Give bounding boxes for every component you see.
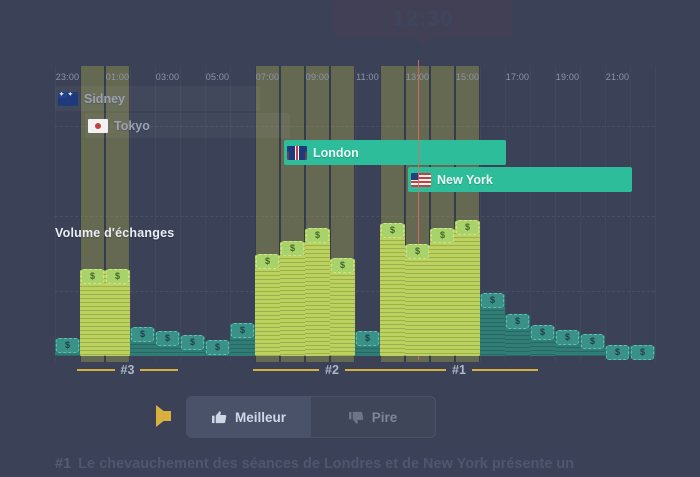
banknote-icon: $ [231,323,254,338]
volume-bar[interactable]: $ [555,331,580,356]
flag-uk-icon [287,146,307,160]
volume-bar[interactable]: $ [155,332,180,356]
rank-line-left [380,369,446,371]
axis-tick-label: 23:00 [56,72,80,82]
volume-bar[interactable]: $ [55,339,80,356]
volume-bar[interactable]: $ [130,328,155,356]
tab-meilleur[interactable]: Meilleur [187,397,311,437]
dollar-glyph: $ [615,348,620,357]
thumbs-down-icon [349,410,364,425]
banknote-icon: $ [356,331,379,346]
banknote-icon: $ [431,228,454,243]
volume-bar[interactable]: $ [430,229,455,356]
caption-number: #1 [55,456,71,472]
session-bar-london[interactable]: London [284,140,506,165]
volume-bars: $$$$$$$$$$$$$$$$$$$$$$$$ [55,216,655,356]
session-label: New York [437,173,493,187]
session-label: Tokyo [114,119,150,133]
banknote-icon: $ [556,330,579,345]
rank-line-left [77,369,115,371]
volume-bar[interactable]: $ [380,224,405,356]
axis-tick-label: 17:00 [506,72,530,82]
arrow-right-icon [156,405,170,427]
tooltip-arrow-icon [413,37,433,47]
session-bar-sidney[interactable]: Sidney [55,86,260,111]
dollar-glyph: $ [465,223,470,232]
banknote-icon: $ [581,334,604,349]
volume-bar[interactable]: $ [105,270,130,356]
volume-bar[interactable]: $ [180,336,205,356]
axis-tick-label: 01:00 [106,72,130,82]
volume-bar[interactable]: $ [330,259,355,356]
axis-tick-label: 15:00 [456,72,480,82]
dollar-glyph: $ [640,348,645,357]
dollar-glyph: $ [340,261,345,270]
banknote-icon: $ [406,244,429,259]
volume-bar[interactable]: $ [530,326,555,356]
axis-tick-label: 21:00 [606,72,630,82]
ranking-toggle-controls: Meilleur Pire [186,396,486,438]
flag-japan-icon [88,119,108,133]
thumbs-up-icon [212,410,227,425]
banknote-icon: $ [481,293,504,308]
dollar-glyph: $ [440,231,445,240]
axis-tick-label: 07:00 [256,72,280,82]
dollar-glyph: $ [65,341,70,350]
banknote-icon: $ [106,269,129,284]
dollar-glyph: $ [365,334,370,343]
rank-label: #1 [452,363,466,377]
volume-bar[interactable]: $ [455,221,480,356]
banknote-icon: $ [531,325,554,340]
dollar-glyph: $ [515,317,520,326]
rank-line-right [140,369,178,371]
rank-label: #3 [121,363,135,377]
volume-bar[interactable]: $ [230,324,255,356]
tab-pire[interactable]: Pire [311,397,435,437]
banknote-icon: $ [306,228,329,243]
dollar-glyph: $ [390,226,395,235]
dollar-glyph: $ [290,244,295,253]
grid-line-vertical [655,66,656,362]
volume-bar[interactable]: $ [605,346,630,356]
rank-marker-3: #3 [77,362,180,378]
volume-bar[interactable]: $ [205,341,230,356]
rank-line-left [253,369,319,371]
dollar-glyph: $ [140,330,145,339]
banknote-icon: $ [256,254,279,269]
volume-bar[interactable]: $ [80,270,105,356]
volume-bar[interactable]: $ [355,332,380,356]
axis-tick-label: 19:00 [556,72,580,82]
session-label: Sidney [84,92,125,106]
rank-marker-1: #1 [380,362,540,378]
dollar-glyph: $ [190,338,195,347]
banknote-icon: $ [81,269,104,284]
banknote-icon: $ [456,220,479,235]
session-bar-new-york[interactable]: New York [408,167,632,192]
axis-tick-label: 05:00 [206,72,230,82]
caption-text: #1Le chevauchement des séances de Londre… [55,456,665,472]
axis-tick-label: 11:00 [356,72,379,82]
axis-tick-label: 09:00 [306,72,330,82]
tooltip-time-label: 12:30 [392,6,453,32]
axis-tick-label: 03:00 [156,72,180,82]
dollar-glyph: $ [565,333,570,342]
dollar-glyph: $ [315,231,320,240]
volume-bar[interactable]: $ [280,242,305,356]
dollar-glyph: $ [540,328,545,337]
banknote-icon: $ [56,338,79,353]
volume-bar[interactable]: $ [580,335,605,356]
caption-body: Le chevauchement des séances de Londres … [78,456,574,472]
volume-bar[interactable]: $ [255,255,280,356]
session-bars: SidneyTokyoLondonNew York [55,86,655,196]
segmented-control[interactable]: Meilleur Pire [186,396,436,438]
time-tooltip: 12:30 [333,0,513,38]
flag-usa-icon [411,173,431,187]
rank-markers: #3#2#1 [55,362,655,380]
dollar-glyph: $ [265,257,270,266]
app-stage: 12:30 23:0001:0003:0005:0007:0009:0011:0… [0,0,700,477]
tab-pire-label: Pire [372,410,398,425]
banknote-icon: $ [606,345,629,360]
dollar-glyph: $ [590,337,595,346]
dollar-glyph: $ [490,296,495,305]
tab-meilleur-label: Meilleur [235,410,286,425]
banknote-icon: $ [206,340,229,355]
banknote-icon: $ [506,314,529,329]
banknote-icon: $ [281,241,304,256]
dollar-glyph: $ [90,272,95,281]
dollar-glyph: $ [165,334,170,343]
dollar-glyph: $ [115,272,120,281]
volume-bar[interactable]: $ [405,245,430,356]
dollar-glyph: $ [240,326,245,335]
banknote-icon: $ [181,335,204,350]
session-label: London [313,146,359,160]
volume-bar[interactable]: $ [305,229,330,356]
banknote-icon: $ [156,331,179,346]
volume-bar[interactable]: $ [630,346,655,356]
session-bar-tokyo[interactable]: Tokyo [85,113,290,138]
rank-label: #2 [325,363,339,377]
volume-bar[interactable]: $ [480,294,505,356]
banknote-icon: $ [331,258,354,273]
rank-line-right [472,369,538,371]
volume-bar[interactable]: $ [505,315,530,356]
flag-australia-icon [58,92,78,106]
banknote-icon: $ [631,345,654,360]
dollar-glyph: $ [215,343,220,352]
banknote-icon: $ [131,327,154,342]
dollar-glyph: $ [415,247,420,256]
banknote-icon: $ [381,223,404,238]
